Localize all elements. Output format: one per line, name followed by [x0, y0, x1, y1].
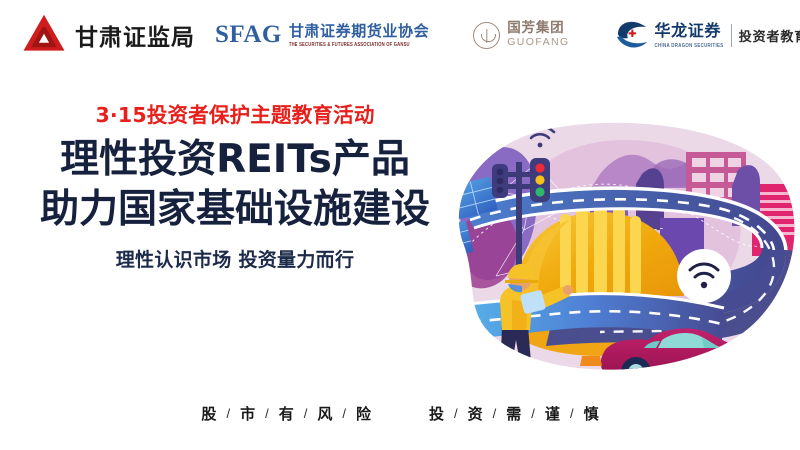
risk-separator: / — [342, 406, 346, 421]
csrc-name-cn: 甘肃证监局 — [75, 18, 195, 52]
sfag-abbr: SFAG — [215, 21, 282, 49]
china-dragon-name-cn: 华龙证券 — [655, 23, 724, 39]
investor-education-base-label: 投资者教育基地 — [739, 26, 800, 45]
risk-separator: / — [226, 406, 230, 421]
risk-char: 市 — [240, 403, 255, 424]
csrc-triangle-icon — [22, 15, 66, 55]
sfag-name-cn: 甘肃证券期货业协会 — [289, 24, 429, 40]
sponsor-logo-bar: 甘肃证监局 SFAG 甘肃证券期货业协会 THE SECURITIES & FU… — [0, 0, 800, 70]
guofang-name-cn: 国芳集团 — [507, 22, 569, 36]
risk-char: 需 — [506, 403, 521, 424]
risk-char: 谨 — [545, 403, 560, 424]
risk-separator: / — [531, 406, 535, 421]
risk-char: 险 — [356, 403, 371, 424]
headline-line-1: 理性投资REITs产品 — [0, 135, 470, 185]
risk-char: 股 — [201, 403, 216, 424]
risk-separator: / — [454, 406, 458, 421]
logo-china-dragon: 华龙证券 CHINA DRAGON SECURITIES 投资者教育基地 — [615, 20, 800, 50]
risk-warning-right: 投 / 资 / 需 / 谨 / 慎 — [429, 403, 599, 424]
risk-warning-left: 股 / 市 / 有 / 风 / 险 — [201, 403, 371, 424]
risk-separator: / — [570, 406, 574, 421]
risk-char: 资 — [468, 403, 483, 424]
risk-char: 投 — [429, 403, 444, 424]
logo-sfag: SFAG 甘肃证券期货业协会 THE SECURITIES & FUTURES … — [215, 21, 429, 49]
campaign-kicker: 3·15投资者保护主题教育活动 — [0, 98, 470, 128]
poster-root: 甘肃证监局 SFAG 甘肃证券期货业协会 THE SECURITIES & FU… — [0, 0, 800, 450]
sfag-name-en: THE SECURITIES & FUTURES ASSOCIATION OF … — [289, 41, 429, 47]
guofang-name-en: GUOFANG — [507, 36, 569, 48]
risk-char: 有 — [279, 403, 294, 424]
logo-guofang: 国芳集团 GUOFANG — [473, 22, 569, 49]
logo-csrc: 甘肃证监局 — [22, 15, 195, 55]
risk-separator: / — [265, 406, 269, 421]
headline-line-2: 助力国家基础设施建设 — [0, 185, 470, 234]
headline-block: 3·15投资者保护主题教育活动 理性投资REITs产品 助力国家基础设施建设 理… — [0, 98, 470, 272]
dragon-wave-icon — [615, 20, 649, 50]
wifi-badge — [677, 249, 731, 303]
risk-separator: / — [493, 406, 497, 421]
guofang-circle-icon — [473, 22, 500, 49]
risk-warning-footer: 股 / 市 / 有 / 风 / 险 投 / 资 / 需 / 谨 / 慎 — [0, 403, 800, 424]
sub-slogan: 理性认识市场 投资量力而行 — [0, 245, 470, 272]
risk-char: 慎 — [584, 403, 599, 424]
china-dragon-name-en: CHINA DRAGON SECURITIES — [655, 42, 724, 49]
risk-char: 风 — [317, 403, 332, 424]
china-dragon-divider — [731, 24, 732, 47]
risk-separator: / — [304, 406, 308, 421]
